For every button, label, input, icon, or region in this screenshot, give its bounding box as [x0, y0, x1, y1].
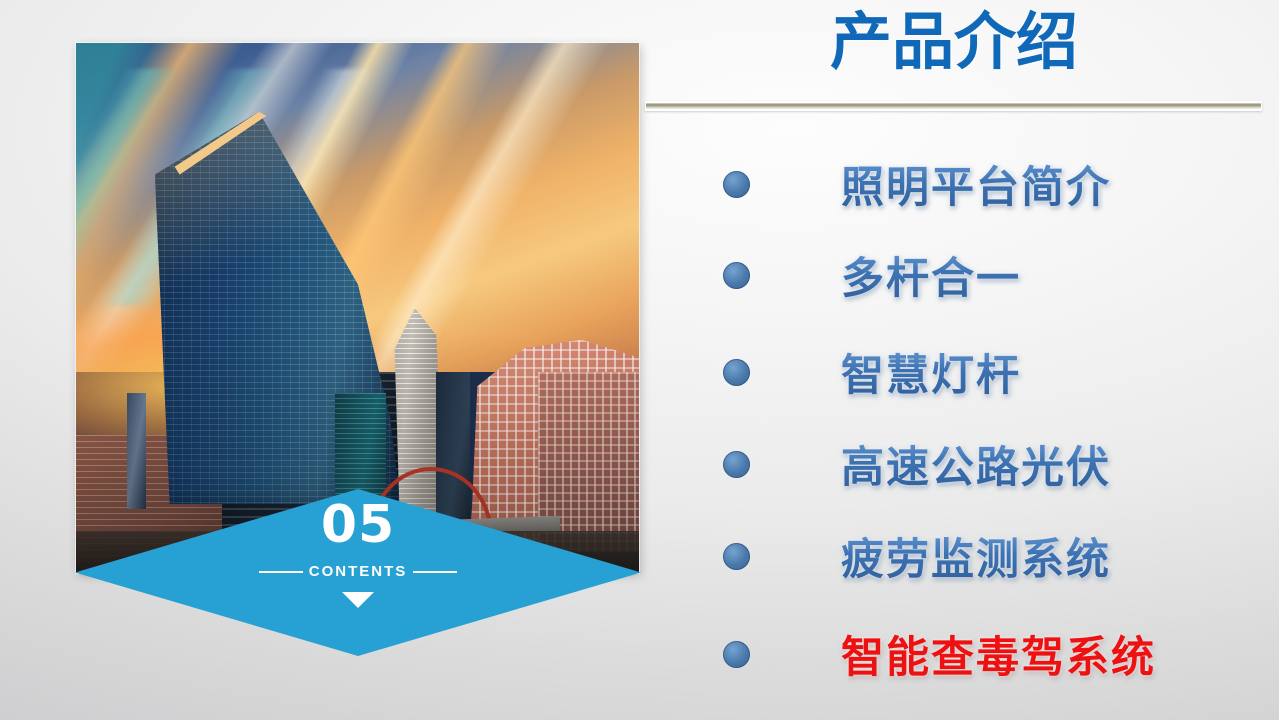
bullet-dot-icon: [723, 359, 750, 386]
list-item-label: 多杆合一: [841, 244, 1021, 306]
bullet-dot-icon: [723, 451, 750, 478]
list-item[interactable]: 高速公路光伏: [645, 434, 1279, 494]
bullet-dot-icon: [723, 543, 750, 570]
list-item[interactable]: 智慧灯杆: [645, 342, 1279, 402]
list-item-label: 智慧灯杆: [841, 341, 1021, 403]
list-item-label: 疲劳监测系统: [841, 525, 1111, 587]
list-item[interactable]: 照明平台简介: [645, 154, 1279, 214]
list-item-label: 照明平台简介: [841, 153, 1111, 215]
list-item-label: 高速公路光伏: [841, 433, 1111, 495]
list-item[interactable]: 智能查毒驾系统: [645, 624, 1279, 684]
slide-root: 05 CONTENTS 产品介绍 照明平台简介 多杆合一 智慧灯杆 高速公路光伏: [0, 0, 1279, 720]
page-title: 产品介绍: [645, 6, 1263, 77]
agenda-list: 照明平台简介 多杆合一 智慧灯杆 高速公路光伏 疲劳监测系统 智能查毒驾系统: [645, 130, 1279, 720]
list-item-label: 智能查毒驾系统: [841, 623, 1156, 685]
list-item[interactable]: 疲劳监测系统: [645, 526, 1279, 586]
bullet-dot-icon: [723, 171, 750, 198]
bullet-dot-icon: [723, 262, 750, 289]
list-item[interactable]: 多杆合一: [645, 245, 1279, 305]
title-divider: [645, 101, 1262, 111]
bullet-dot-icon: [723, 641, 750, 668]
